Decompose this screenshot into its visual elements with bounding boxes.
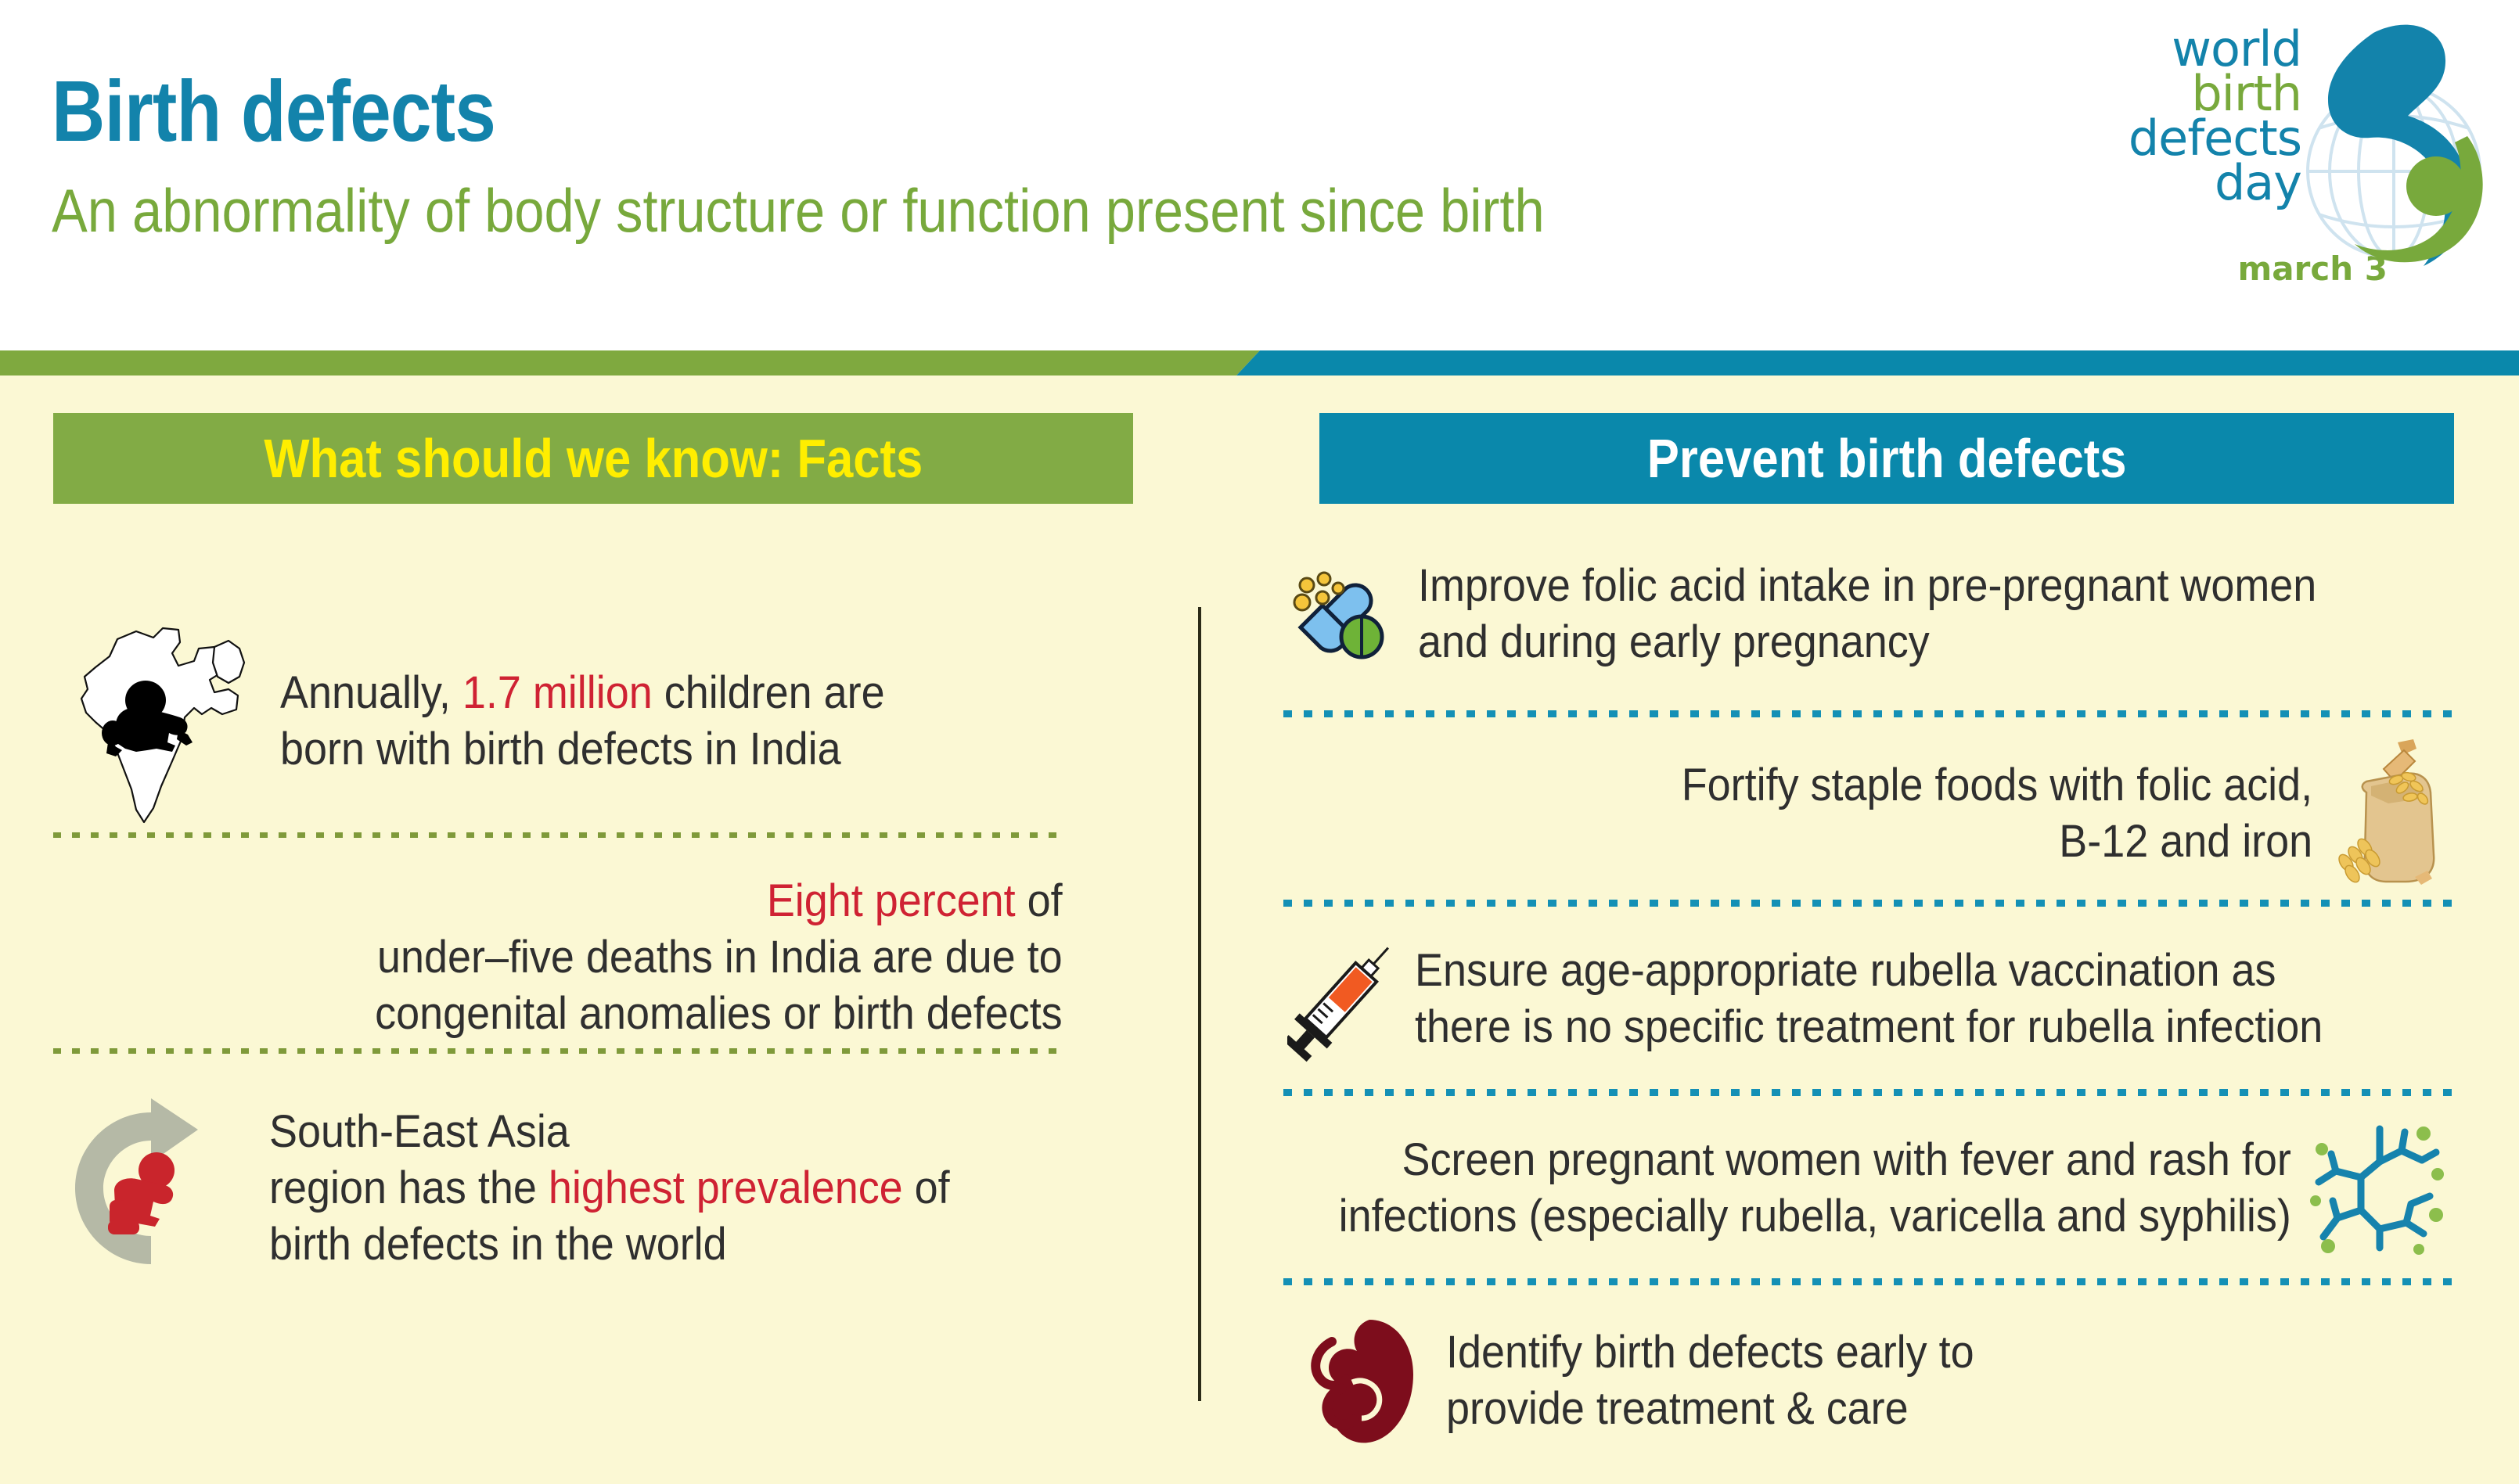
fact-2-highlight: Eight percent: [767, 875, 1016, 926]
grain-sack-wheat-icon: [2320, 735, 2457, 892]
virus-branching-icon: [2301, 1116, 2457, 1260]
prevention-item-5-line2: provide treatment & care: [1446, 1383, 1909, 1434]
prevention-item-3-text: Ensure age-appropriate rubella vaccinati…: [1415, 943, 2323, 1055]
prevention-item-5-line1: Identify birth defects early to: [1446, 1327, 1974, 1378]
prevent-section-banner: Prevent birth defects: [1319, 413, 2454, 504]
facts-separator-1: [53, 832, 1063, 838]
prevention-item-1-line1: Improve folic acid intake in pre-pregnan…: [1418, 560, 2316, 611]
prevention-separator-2: [1283, 900, 2457, 907]
fact-3-line1: South-East Asia: [269, 1106, 570, 1157]
prevention-item-4-line1: Screen pregnant women with fever and ras…: [1402, 1134, 2291, 1185]
prevention-separator-3: [1283, 1089, 2457, 1096]
prevention-item-2: Fortify staple foods with folic acid, B-…: [1283, 735, 2457, 892]
fact-1-line1-post: children are: [653, 667, 885, 718]
world-birth-defects-day-logo: world birth defects day march 3: [2067, 19, 2489, 324]
prevention-item-3-line2: there is no specific treatment for rubel…: [1415, 1001, 2323, 1052]
fact-item-2: Eight percent of under–five deaths in In…: [53, 873, 1063, 1042]
page-header: Birth defects An abnormality of body str…: [0, 0, 2519, 350]
facts-section-banner: What should we know: Facts: [53, 413, 1133, 504]
prevention-item-1: Improve folic acid intake in pre-pregnan…: [1283, 555, 2457, 673]
fact-2-line3: congenital anomalies or birth defects: [375, 988, 1063, 1039]
prevention-item-2-text: Fortify staple foods with folic acid, B-…: [1682, 757, 2312, 870]
prevention-separator-4: [1283, 1278, 2457, 1285]
circular-arrow-with-baby-icon: [53, 1091, 249, 1286]
prevention-item-1-text: Improve folic acid intake in pre-pregnan…: [1418, 558, 2316, 670]
divider-bar-green: [0, 350, 1260, 375]
fact-3-line2-pre: region has the: [269, 1162, 549, 1213]
syringe-icon: [1283, 925, 1401, 1073]
facts-banner-label: What should we know: Facts: [264, 427, 923, 490]
prevention-item-5-text: Identify birth defects early to provide …: [1446, 1324, 1974, 1437]
page-title: Birth defects: [52, 69, 1510, 155]
prevention-item-4: Screen pregnant women with fever and ras…: [1182, 1116, 2457, 1260]
fact-1-line1-pre: Annually,: [280, 667, 462, 718]
prevention-item-5: Identify birth defects early to provide …: [1291, 1306, 2465, 1455]
fact-1-line2: born with birth defects in India: [280, 724, 841, 774]
fact-item-3: South-East Asia region has the highest p…: [53, 1091, 1133, 1286]
fact-2-text: Eight percent of under–five deaths in In…: [375, 873, 1063, 1042]
fact-3-text: South-East Asia region has the highest p…: [269, 1104, 950, 1273]
section-divider-bar: [0, 350, 2519, 375]
fact-3-line2-post: of: [903, 1162, 950, 1213]
pills-capsule-icon: [1283, 555, 1401, 673]
title-block: Birth defects An abnormality of body str…: [52, 69, 1748, 241]
prevention-item-2-line2: B-12 and iron: [2059, 816, 2312, 867]
fact-item-1: Annually, 1.7 million children are born …: [53, 604, 1133, 839]
fact-2-line1-post: of: [1016, 875, 1063, 926]
fact-1-text: Annually, 1.7 million children are born …: [280, 665, 885, 778]
fact-3-line3: birth defects in the world: [269, 1219, 727, 1270]
page-subtitle: An abnormality of body structure or func…: [52, 180, 1545, 241]
prevention-item-3: Ensure age-appropriate rubella vaccinati…: [1283, 925, 2457, 1073]
prevent-banner-label: Prevent birth defects: [1647, 427, 2127, 490]
prevention-separator-1: [1283, 710, 2457, 717]
prevention-item-1-line2: and during early pregnancy: [1418, 616, 1930, 667]
fact-3-highlight: highest prevalence: [549, 1162, 903, 1213]
column-divider: [1198, 607, 1201, 1401]
fetus-icon: [1291, 1306, 1432, 1455]
globe-mother-child-icon: [2262, 19, 2497, 285]
prevention-item-3-line1: Ensure age-appropriate rubella vaccinati…: [1415, 945, 2276, 996]
india-map-with-baby-icon: [53, 604, 264, 839]
content-area: What should we know: Facts Prevent birth…: [0, 375, 2519, 1484]
fact-1-highlight: 1.7 million: [462, 667, 653, 718]
prevention-item-2-line1: Fortify staple foods with folic acid,: [1682, 760, 2312, 810]
fact-2-line2: under–five deaths in India are due to: [377, 932, 1063, 983]
prevention-item-4-text: Screen pregnant women with fever and ras…: [1339, 1132, 2291, 1245]
facts-separator-2: [53, 1048, 1063, 1054]
divider-bar-blue: [1233, 350, 2519, 375]
prevention-item-4-line2: infections (especially rubella, varicell…: [1339, 1191, 2291, 1241]
